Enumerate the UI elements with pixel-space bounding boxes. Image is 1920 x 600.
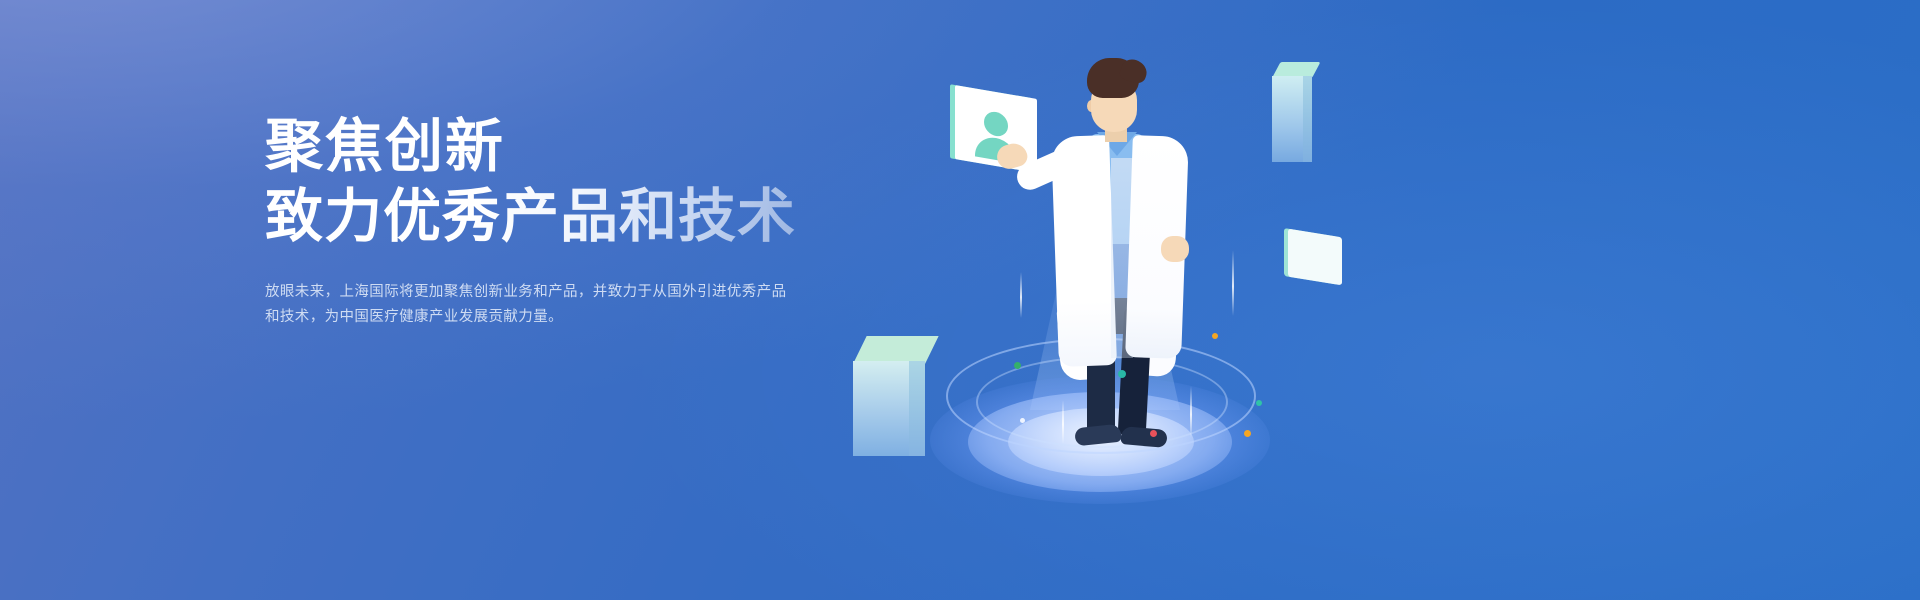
decor-box-low-front: [853, 361, 909, 456]
banner-illustration: [820, 0, 1440, 600]
streak-center: [1075, 205, 1077, 283]
floating-mini-card-icon: [1288, 229, 1342, 286]
decor-box-low-side: [909, 361, 925, 456]
hand-in-pocket: [1161, 236, 1189, 262]
dot-orange-low: [1244, 430, 1251, 437]
decor-box-low: [853, 336, 925, 454]
dot-white-right: [1020, 418, 1025, 423]
paragraph-line-1: 放眼未来，上海国际将更加聚焦创新业务和产品，并致力于从国外引进优秀产品: [265, 280, 850, 305]
streak-right: [1232, 250, 1234, 316]
paragraph-line-2: 和技术，为中国医疗健康产业发展贡献力量。: [265, 305, 850, 330]
headline-line-2: 致力优秀产品和技术: [265, 180, 885, 252]
dot-teal-right: [1256, 400, 1262, 406]
decor-box-tall-front: [1272, 76, 1303, 162]
dot-red-low: [1150, 430, 1157, 437]
banner-copy: 聚焦创新 致力优秀产品和技术 放眼未来，上海国际将更加聚焦创新业务和产品，并致力…: [265, 110, 885, 330]
dot-green-left: [1014, 362, 1021, 369]
shoe-left: [1074, 424, 1122, 447]
streak-under-right: [1190, 386, 1192, 438]
headline-line-1: 聚焦创新: [265, 110, 885, 182]
banner-paragraph: 放眼未来，上海国际将更加聚焦创新业务和产品，并致力于从国外引进优秀产品 和技术，…: [265, 280, 850, 330]
dot-teal-mid: [1118, 370, 1126, 378]
decor-box-tall-side: [1303, 76, 1312, 162]
decor-box-tall: [1272, 62, 1312, 162]
doctor-figure: [1025, 58, 1205, 448]
streak-under-left: [1062, 400, 1064, 444]
dot-orange-top: [1212, 333, 1218, 339]
decor-box-low-top: [853, 336, 939, 364]
streak-left: [1020, 272, 1022, 318]
shoe-right: [1120, 426, 1167, 448]
avatar-head-shape: [984, 110, 1008, 138]
promo-banner: 聚焦创新 致力优秀产品和技术 放眼未来，上海国际将更加聚焦创新业务和产品，并致力…: [0, 0, 1920, 600]
